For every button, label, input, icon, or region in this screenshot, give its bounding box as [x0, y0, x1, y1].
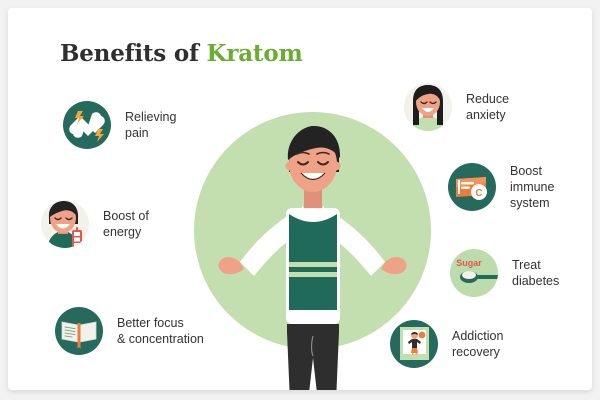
infographic-card: Benefits of Kratom [8, 8, 592, 390]
benefit-reduce-anxiety[interactable]: Reduce anxiety [404, 83, 509, 131]
title-highlight: Kratom [206, 40, 302, 67]
benefit-label: Boost of energy [103, 208, 149, 240]
benefit-label: Reduce anxiety [466, 91, 509, 123]
open-book-icon [55, 307, 103, 355]
sugar-spoon-icon: Sugar [450, 249, 498, 297]
benefit-relieving-pain[interactable]: Relieving pain [63, 101, 176, 149]
bone-joint-lightning-icon [63, 101, 111, 149]
benefit-label: Better focus & concentration [117, 315, 204, 347]
sugar-label: Sugar [456, 258, 482, 268]
benefit-boost-of-energy[interactable]: Boost of energy [41, 200, 149, 248]
benefit-label: Addiction recovery [452, 328, 503, 360]
benefit-label: Relieving pain [125, 109, 176, 141]
benefit-boost-immune-system[interactable]: C Boost immune system [448, 163, 554, 211]
vitamin-c-box-icon: C [448, 163, 496, 211]
man-face-battery-icon [41, 200, 89, 248]
page-title: Benefits of Kratom [60, 40, 303, 67]
svg-text:C: C [475, 188, 482, 199]
benefit-addiction-recovery[interactable]: Addiction recovery [390, 320, 503, 368]
benefit-better-focus-concentration[interactable]: Better focus & concentration [55, 307, 204, 355]
photo-person-freedom-icon [390, 320, 438, 368]
benefit-label: Treat diabetes [512, 257, 559, 289]
benefit-treat-diabetes[interactable]: Sugar Treat diabetes [450, 249, 559, 297]
benefit-label: Boost immune system [510, 163, 554, 211]
title-prefix: Benefits of [60, 40, 206, 67]
woman-face-calm-icon [404, 83, 452, 131]
